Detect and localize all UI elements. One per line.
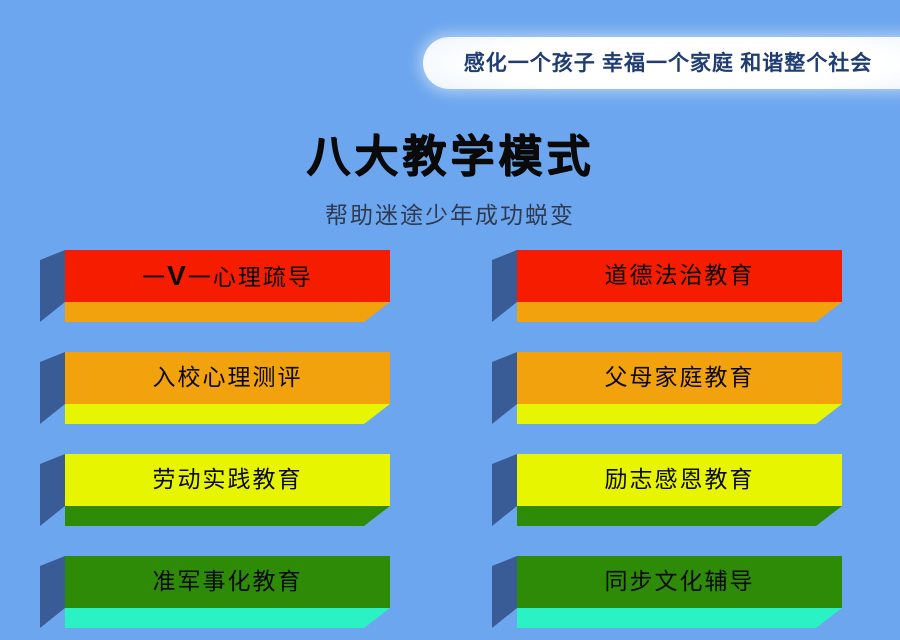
bar-side-face bbox=[492, 352, 517, 424]
bar-label: 劳动实践教育 bbox=[65, 454, 390, 506]
bar-side-face bbox=[492, 454, 517, 526]
bar-bottom-face bbox=[517, 506, 842, 526]
bar-item-left-2[interactable]: 入校心理测评 bbox=[40, 352, 390, 424]
bar-label: 道德法治教育 bbox=[517, 250, 842, 302]
bar-side-face bbox=[40, 352, 65, 424]
bar-bottom-face bbox=[517, 608, 842, 628]
bar-bottom-face bbox=[517, 302, 842, 322]
bar-label: 父母家庭教育 bbox=[517, 352, 842, 404]
bar-side-face bbox=[492, 250, 517, 322]
bar-bottom-face bbox=[65, 608, 390, 628]
bar-item-right-1[interactable]: 道德法治教育 bbox=[492, 250, 842, 322]
poster-canvas: 感化一个孩子 幸福一个家庭 和谐整个社会 八大教学模式 帮助迷途少年成功蜕变 一… bbox=[0, 0, 900, 640]
bar-side-face bbox=[40, 250, 65, 322]
bar-side-face bbox=[492, 556, 517, 628]
bar-label: 励志感恩教育 bbox=[517, 454, 842, 506]
bar-label: 一V一心理疏导 bbox=[65, 250, 390, 302]
bar-item-right-4[interactable]: 同步文化辅导 bbox=[492, 556, 842, 628]
bar-bottom-face bbox=[65, 302, 390, 322]
bar-side-face bbox=[40, 556, 65, 628]
bar-item-right-2[interactable]: 父母家庭教育 bbox=[492, 352, 842, 424]
bar-bottom-face bbox=[517, 404, 842, 424]
bar-label: 同步文化辅导 bbox=[517, 556, 842, 608]
page-title: 八大教学模式 bbox=[0, 120, 900, 184]
slogan-text: 感化一个孩子 幸福一个家庭 和谐整个社会 bbox=[423, 37, 900, 89]
slogan-banner: 感化一个孩子 幸福一个家庭 和谐整个社会 bbox=[423, 37, 900, 89]
bar-item-left-4[interactable]: 准军事化教育 bbox=[40, 556, 390, 628]
bar-bottom-face bbox=[65, 404, 390, 424]
bar-label-prefix: 一 bbox=[142, 265, 167, 291]
bar-item-left-3[interactable]: 劳动实践教育 bbox=[40, 454, 390, 526]
bar-item-left-1[interactable]: 一V一心理疏导 bbox=[40, 250, 390, 322]
page-subtitle: 帮助迷途少年成功蜕变 bbox=[0, 196, 900, 230]
bar-bottom-face bbox=[65, 506, 390, 526]
bar-label: 入校心理测评 bbox=[65, 352, 390, 404]
bar-label: 准军事化教育 bbox=[65, 556, 390, 608]
bar-item-right-3[interactable]: 励志感恩教育 bbox=[492, 454, 842, 526]
bar-side-face bbox=[40, 454, 65, 526]
bar-label-vee: V bbox=[167, 260, 188, 291]
bar-label-suffix: 一心理疏导 bbox=[188, 265, 313, 291]
